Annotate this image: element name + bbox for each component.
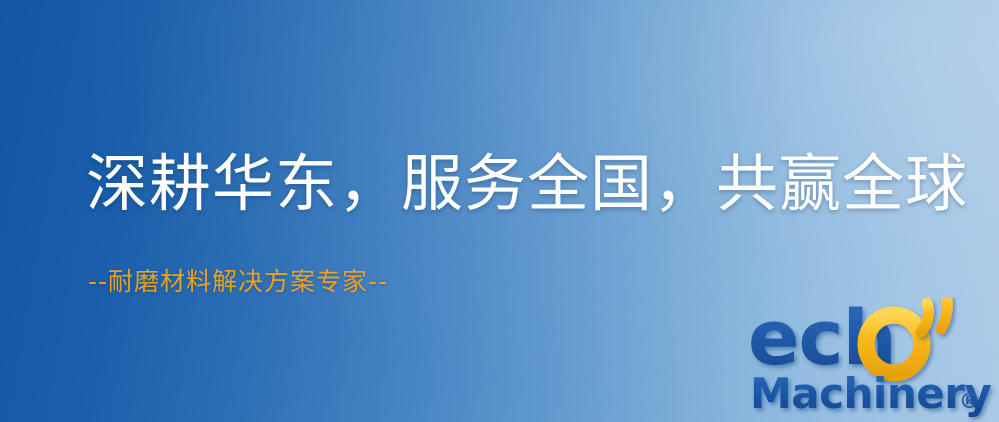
hero-banner: 深耕华东，服务全国，共赢全球 --耐磨材料解决方案专家-- [0, 0, 999, 422]
logo-tagline: Machinery ® [750, 369, 991, 418]
svg-text:Machinery: Machinery [750, 369, 991, 418]
signal-waves-icon [921, 298, 947, 332]
banner-headline: 深耕华东，服务全国，共赢全球 [86, 151, 968, 217]
echo-machinery-logo: ech Machinery ® [746, 298, 999, 422]
svg-text:®: ® [959, 389, 980, 413]
banner-subheadline: --耐磨材料解决方案专家-- [88, 268, 388, 296]
